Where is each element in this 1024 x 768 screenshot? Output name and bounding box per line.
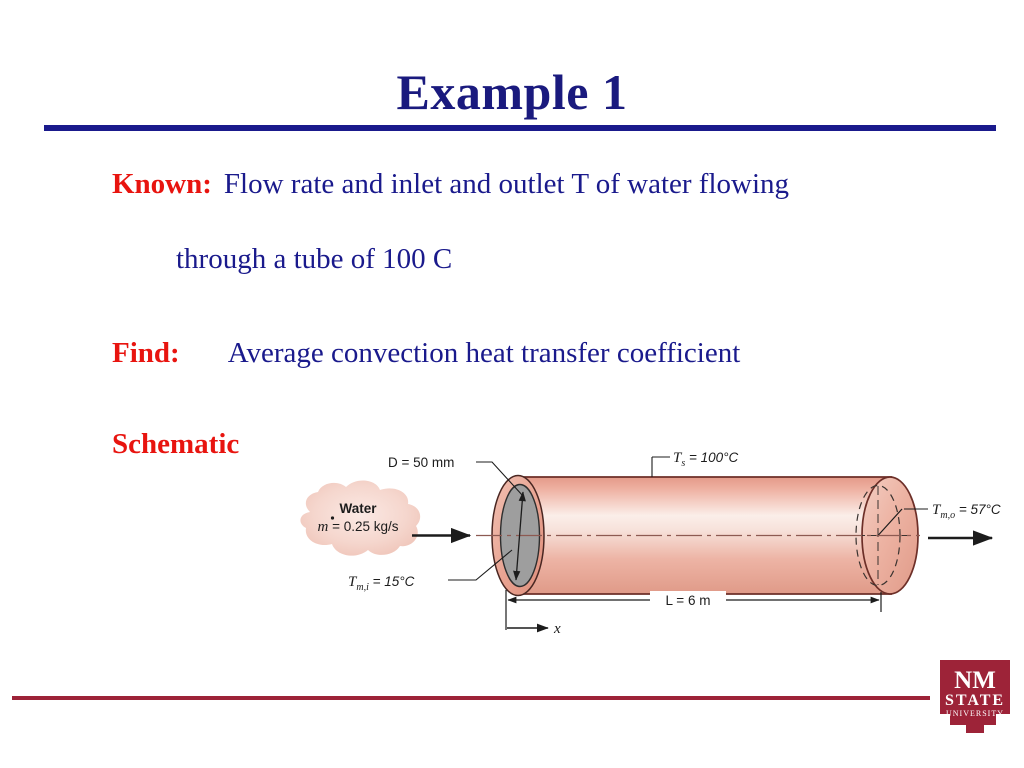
- slide-canvas: Example 1 Known:Flow rate and inlet and …: [0, 0, 1024, 768]
- length-dimension-group: L = 6 m: [506, 590, 881, 630]
- logo-line-3: UNIVERSITY: [946, 709, 1004, 718]
- schematic-label: Schematic: [112, 428, 239, 461]
- mass-flow-value: = 0.25 kg/s: [328, 519, 398, 534]
- mass-flow-label: m = 0.25 kg/s: [317, 519, 398, 535]
- find-text: Average convection heat transfer coeffic…: [228, 337, 741, 369]
- outlet-temp-sub: m,o: [940, 510, 955, 521]
- mass-flow-dot: [331, 516, 334, 519]
- known-text: Flow rate and inlet and outlet T of wate…: [224, 168, 789, 200]
- footer-divider: [12, 696, 930, 700]
- schematic-diagram: D = 50 mm Ts = 100°C Water m = 0.25 kg/s: [280, 430, 1024, 645]
- diameter-label: D = 50 mm: [388, 455, 454, 470]
- inlet-temp-sub: m,i: [356, 582, 369, 593]
- water-callout: Water m = 0.25 kg/s: [300, 481, 420, 556]
- outlet-temp-label: Tm,o = 57°C: [932, 502, 1001, 521]
- inlet-temp-label: Tm,i = 15°C: [348, 574, 415, 593]
- logo-line-1: NM: [954, 667, 996, 694]
- find-row: Find:Average convection heat transfer co…: [112, 337, 740, 370]
- known-row: Known:Flow rate and inlet and outlet T o…: [112, 168, 789, 201]
- fluid-name-label: Water: [339, 501, 377, 516]
- inlet-temp-value: = 15°C: [369, 574, 415, 589]
- surface-temp-label-group: Ts = 100°C: [652, 450, 739, 477]
- title-divider: [44, 125, 996, 131]
- length-label: L = 6 m: [666, 593, 711, 608]
- known-continued: through a tube of 100 C: [176, 243, 452, 276]
- inlet-temp-label-group: Tm,i = 15°C: [348, 550, 512, 593]
- nmsu-logo: NM STATE UNIVERSITY: [936, 659, 1014, 739]
- x-axis-label: x: [553, 621, 561, 637]
- mass-flow-symbol: m: [317, 519, 328, 535]
- page-title: Example 1: [0, 66, 1024, 119]
- known-label: Known:: [112, 168, 212, 200]
- x-axis-group: x: [507, 621, 561, 637]
- outlet-temp-value: = 57°C: [955, 502, 1001, 517]
- surface-temp-value: = 100°C: [685, 450, 738, 465]
- logo-line-2: STATE: [945, 692, 1005, 709]
- find-label: Find:: [112, 337, 180, 369]
- surface-temp-label: Ts = 100°C: [673, 450, 739, 469]
- outlet-temp-label-group: Tm,o = 57°C: [904, 502, 1001, 521]
